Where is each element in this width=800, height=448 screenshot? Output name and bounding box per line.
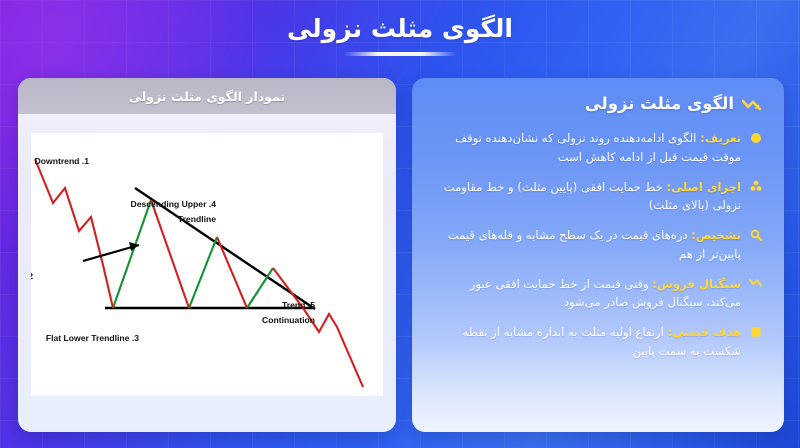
info-panel-heading-row: الگوی مثلث نزولی: [434, 94, 762, 113]
list-item-text: تعریف: الگوی ادامه‌دهنده روند نزولی که ن…: [434, 129, 741, 167]
price-path-consolidation-2: [217, 237, 247, 308]
list-item-text: هدف قیمتی: ارتفاع اولیه مثلث به اندازه م…: [434, 323, 741, 361]
list-item-text: اجزای اصلی: خط حمایت افقی (پایین مثلث) و…: [434, 178, 741, 216]
chart-annotation-4-line1: 4. Descending Upper: [131, 199, 217, 209]
list-item-term: تشخیص:: [691, 228, 741, 242]
page-title-container: الگوی مثلث نزولی: [0, 14, 800, 56]
chart-annotation-1: 1. Downtrend: [35, 156, 90, 166]
list-item-text: سیگنال فروش: وقتی قیمت از خط حمایت افقی …: [434, 275, 741, 313]
chart-panel-title: نمودار الگوی مثلث نزولی: [129, 89, 285, 104]
list-item-term: سیگنال فروش:: [652, 277, 741, 291]
list-item-term: هدف قیمتی:: [668, 325, 741, 339]
page-title: الگوی مثلث نزولی: [0, 14, 800, 44]
descending-triangle-chart: 1. Downtrend 2. Consolidation 3. Flat Lo…: [31, 133, 383, 396]
title-underline: [344, 52, 456, 56]
list-item: سیگنال فروش: وقتی قیمت از خط حمایت افقی …: [434, 275, 762, 313]
price-path-downtrend: [35, 159, 113, 308]
list-item-desc: الگوی ادامه‌دهنده روند نزولی که نشان‌دهن…: [455, 131, 741, 164]
zigzag-down-icon: [749, 277, 762, 290]
chart-annotation-5-line2: Continuation: [262, 315, 315, 325]
magnifier-icon: [749, 228, 762, 241]
list-item: هدف قیمتی: ارتفاع اولیه مثلث به اندازه م…: [434, 323, 762, 361]
list-item: تشخیص: دره‌های قیمت در یک سطح مشابه و قل…: [434, 226, 762, 264]
list-item-term: تعریف:: [700, 131, 741, 145]
chart-annotation-4-line2: Trendline: [178, 214, 216, 224]
chart-annotation-2: 2. Consolidation: [31, 271, 33, 281]
list-item-term: اجزای اصلی:: [667, 180, 741, 194]
square-icon: [749, 325, 762, 338]
chart-annotation-3: 3. Flat Lower Trendline: [46, 333, 139, 343]
list-item: اجزای اصلی: خط حمایت افقی (پایین مثلث) و…: [434, 178, 762, 216]
info-bullet-list: تعریف: الگوی ادامه‌دهنده روند نزولی که ن…: [434, 129, 762, 361]
zigzag-down-icon: [742, 97, 762, 111]
info-panel-heading: الگوی مثلث نزولی: [585, 94, 734, 113]
chart-panel-header: نمودار الگوی مثلث نزولی: [18, 78, 396, 114]
chart-annotation-5-line1: 5. Trend: [282, 300, 315, 310]
info-panel: الگوی مثلث نزولی تعریف: الگوی ادامه‌دهند…: [412, 78, 784, 432]
circle-icon: [749, 131, 762, 144]
chart-surface: 1. Downtrend 2. Consolidation 3. Flat Lo…: [31, 133, 383, 396]
cluster-dots-icon: [749, 180, 762, 193]
list-item: تعریف: الگوی ادامه‌دهنده روند نزولی که ن…: [434, 129, 762, 167]
chart-panel: نمودار الگوی مثلث نزولی: [18, 78, 396, 432]
list-item-text: تشخیص: دره‌های قیمت در یک سطح مشابه و قل…: [434, 226, 741, 264]
